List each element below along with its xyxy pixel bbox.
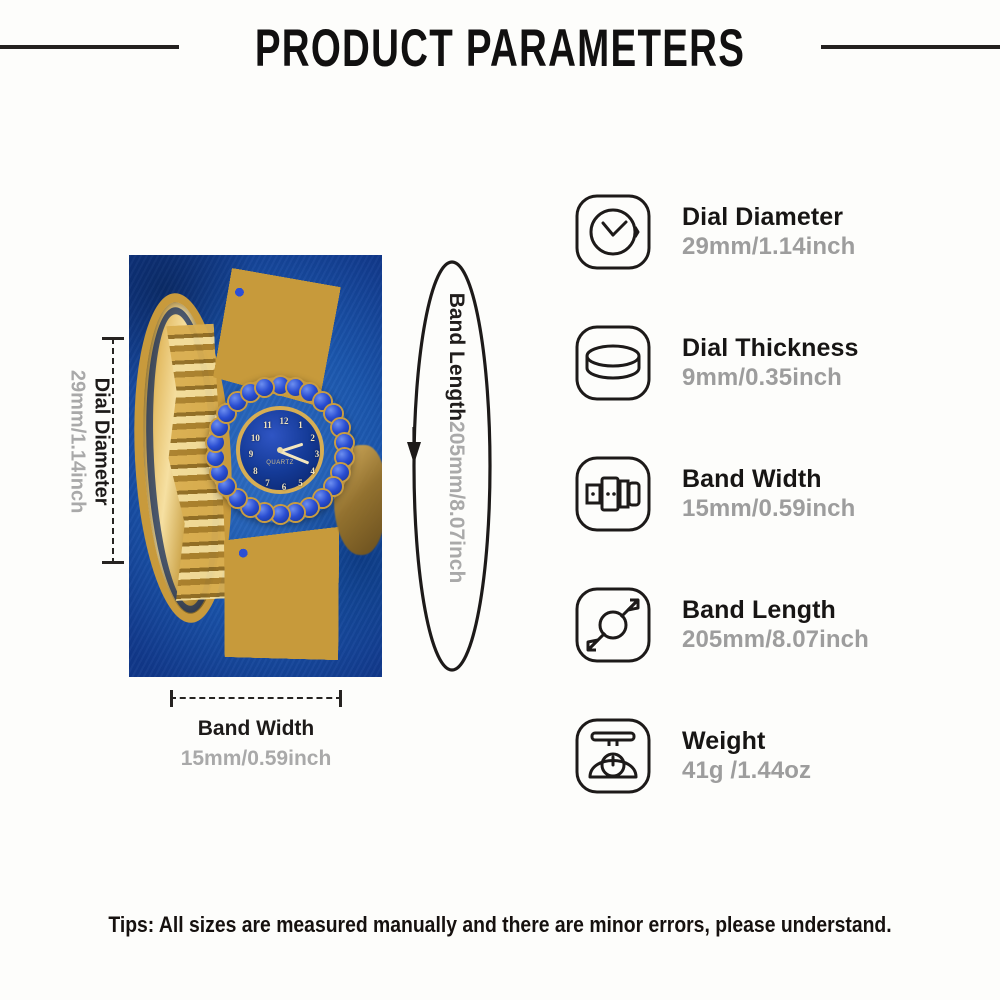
spec-row-weight: Weight 41g /1.44oz (572, 706, 972, 806)
watch-dial-icon (572, 191, 654, 273)
dial-numeral: 2 (310, 433, 315, 443)
spec-list: Dial Diameter 29mm/1.14inch Dial Thickne… (572, 182, 972, 806)
dial-diameter-label: Dial Diameter (89, 378, 113, 506)
band-length-label: Band Length (444, 293, 468, 421)
dial-diameter-label-group: 29mm/1.14inch Dial Diameter (65, 329, 112, 555)
spec-text-dial-diameter: Dial Diameter 29mm/1.14inch (682, 202, 972, 262)
dimension-line-horizontal-row (128, 688, 384, 708)
spec-label-weight: Weight (682, 726, 972, 757)
spec-text-band-width: Band Width 15mm/0.59inch (682, 464, 972, 524)
band-width-annotation: Band Width 15mm/0.59inch (128, 688, 384, 774)
spec-text-band-length: Band Length 205mm/8.07inch (682, 595, 972, 655)
dial-diameter-value: 29mm/1.14inch (65, 370, 89, 513)
spec-label-band-length: Band Length (682, 595, 972, 626)
band-length-label-group: 205mm/8.07inch Band Length (444, 304, 468, 572)
dial-numeral: 6 (282, 482, 287, 492)
dial-numeral: 7 (265, 478, 270, 488)
hand-center-dot (277, 447, 283, 453)
dial-diameter-annotation: 29mm/1.14inch Dial Diameter (46, 330, 132, 575)
page-title-bar: PRODUCT PARAMETERS (0, 14, 1000, 80)
dimension-cap-bottom (102, 561, 124, 564)
dial-numeral: 5 (298, 478, 303, 488)
spec-label-dial-thickness: Dial Thickness (682, 333, 972, 364)
band-length-value: 205mm/8.07inch (444, 421, 468, 583)
watch-dial: QUARTZ 121234567891011 (236, 406, 324, 494)
dial-numeral: 10 (251, 433, 260, 443)
spec-row-band-width: Band Width 15mm/0.59inch (572, 444, 972, 544)
title-rule-left (0, 45, 179, 49)
spec-label-dial-diameter: Dial Diameter (682, 202, 972, 233)
watch-case: QUARTZ 121234567891011 (207, 377, 353, 523)
dial-brand-text: QUARTZ (266, 460, 294, 466)
spec-row-dial-diameter: Dial Diameter 29mm/1.14inch (572, 182, 972, 282)
band-width-label: Band Width (128, 714, 384, 744)
dimension-cap-right (339, 690, 342, 707)
spec-text-weight: Weight 41g /1.44oz (682, 726, 972, 786)
band-length-annotation: 205mm/8.07inch Band Length (398, 252, 506, 680)
spec-value-dial-thickness: 9mm/0.35inch (682, 363, 972, 393)
spec-text-dial-thickness: Dial Thickness 9mm/0.35inch (682, 333, 972, 393)
watch-strap-icon (572, 584, 654, 666)
spec-label-band-width: Band Width (682, 464, 972, 495)
gem-band-lower (216, 527, 353, 674)
spec-value-band-width: 15mm/0.59inch (682, 494, 972, 524)
kitchen-scale-icon (572, 715, 654, 797)
spec-value-dial-diameter: 29mm/1.14inch (682, 232, 972, 262)
dial-numeral: 9 (249, 449, 254, 459)
belt-buckle-icon (572, 453, 654, 535)
spec-row-band-length: Band Length 205mm/8.07inch (572, 575, 972, 675)
product-parameters-page: PRODUCT PARAMETERS QUARTZ 12123456789101… (0, 0, 1000, 1000)
spec-row-dial-thickness: Dial Thickness 9mm/0.35inch (572, 313, 972, 413)
title-rule-right (821, 45, 1000, 49)
dimension-line-horizontal (170, 697, 342, 699)
disc-thickness-icon (572, 322, 654, 404)
spec-value-band-length: 205mm/8.07inch (682, 625, 972, 655)
dial-numeral: 4 (310, 466, 315, 476)
footer-tip: Tips: All sizes are measured manually an… (60, 912, 940, 938)
dial-numeral: 8 (253, 466, 258, 476)
product-photo: QUARTZ 121234567891011 (129, 255, 382, 677)
spec-value-weight: 41g /1.44oz (682, 756, 972, 786)
page-title: PRODUCT PARAMETERS (255, 16, 745, 78)
dial-numeral: 1 (298, 420, 303, 430)
dial-numeral: 11 (263, 420, 272, 430)
dial-numeral: 3 (315, 449, 320, 459)
band-width-value: 15mm/0.59inch (128, 744, 384, 774)
dial-numeral: 12 (280, 416, 289, 426)
